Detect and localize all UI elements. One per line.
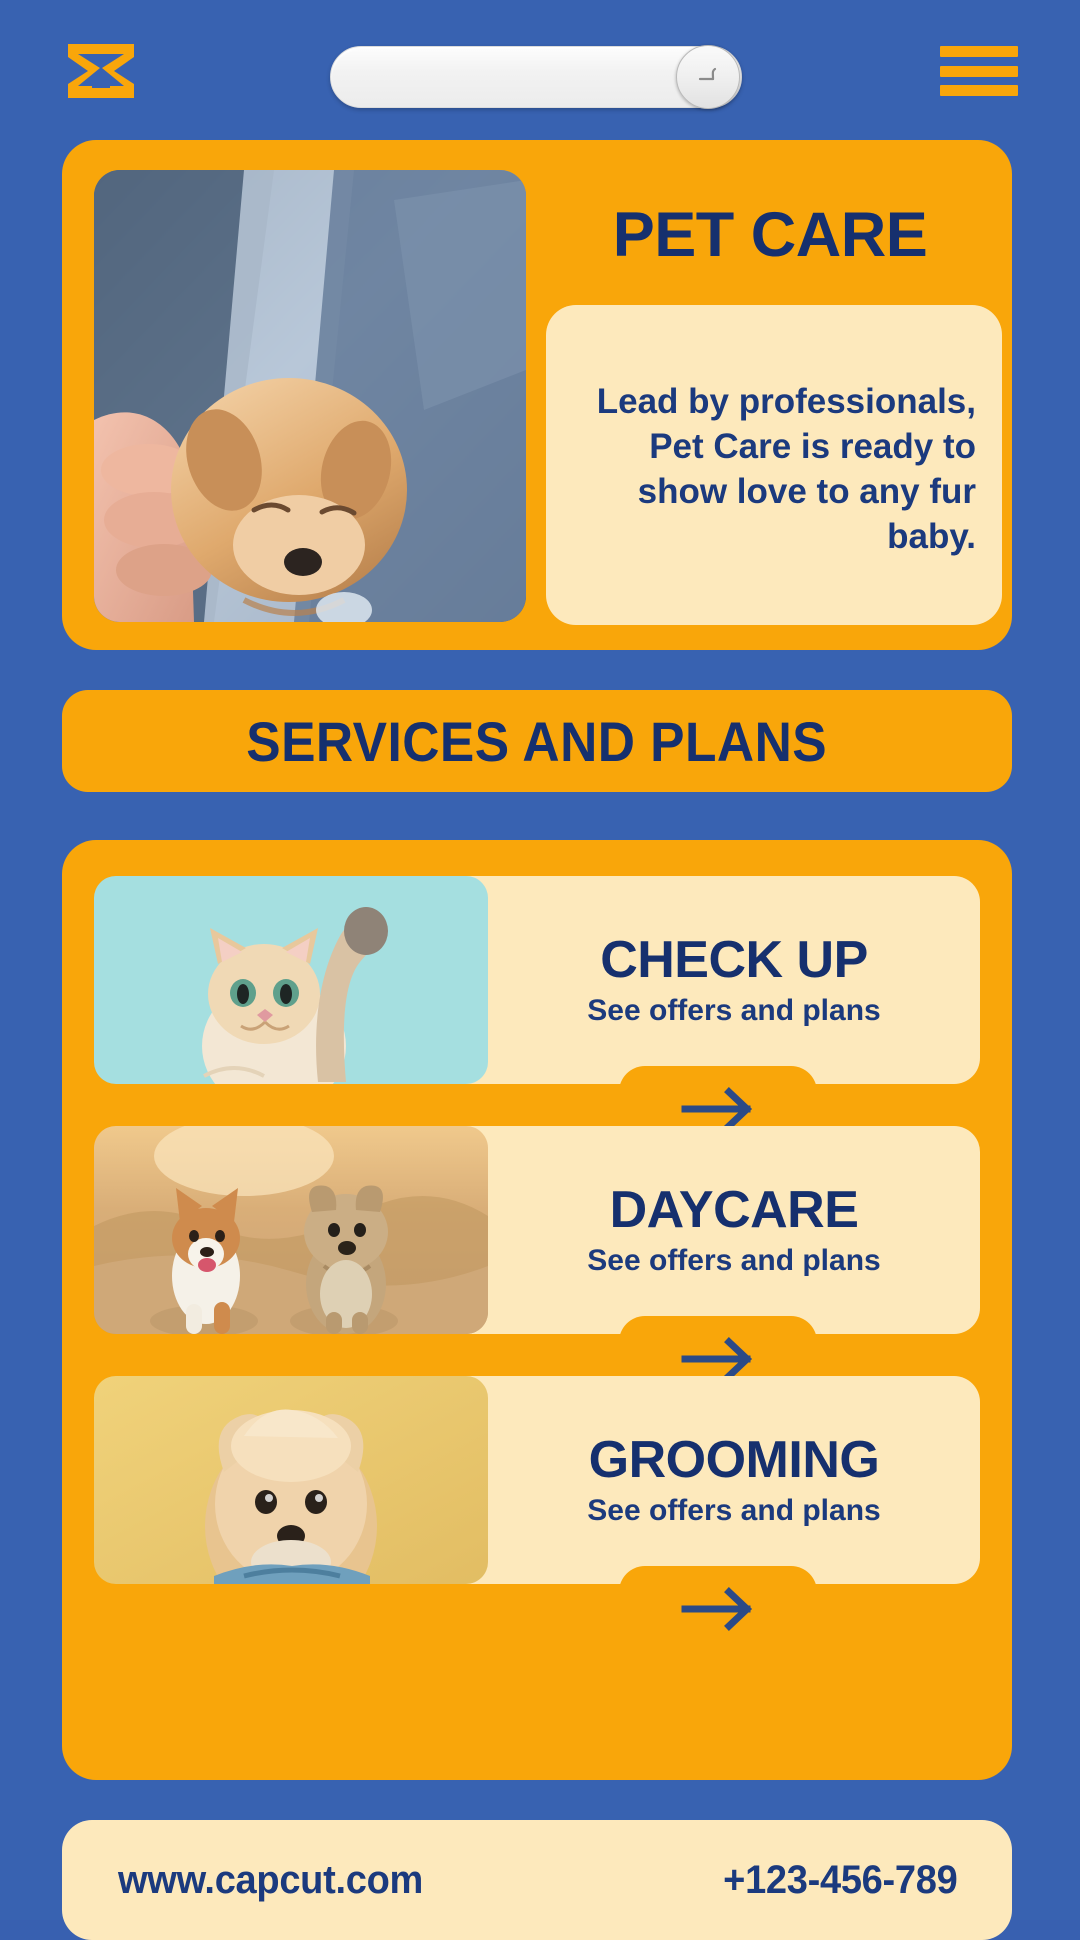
footer-website[interactable]: www.capcut.com xyxy=(118,1858,423,1903)
service-title: DAYCARE xyxy=(610,1184,859,1236)
hero-photo xyxy=(94,170,526,622)
page-footer: www.capcut.com +123-456-789 xyxy=(62,1820,1012,1940)
service-title: GROOMING xyxy=(589,1434,880,1486)
service-panel: CHECK UP See offers and plans xyxy=(94,876,980,1084)
hero-title: PET CARE xyxy=(540,204,1000,267)
service-title: CHECK UP xyxy=(600,934,868,986)
service-photo-daycare xyxy=(94,1126,488,1334)
service-panel: DAYCARE See offers and plans xyxy=(94,1126,980,1334)
service-subtitle: See offers and plans xyxy=(587,996,880,1026)
service-card-grooming[interactable]: GROOMING See offers and plans xyxy=(94,1376,980,1624)
page-header xyxy=(0,0,1080,128)
service-panel: GROOMING See offers and plans xyxy=(94,1376,980,1584)
services-container: CHECK UP See offers and plans xyxy=(62,840,1012,1780)
hero-description-box: Lead by professionals, Pet Care is ready… xyxy=(546,305,1002,625)
search-input[interactable] xyxy=(330,46,742,108)
service-copy: DAYCARE See offers and plans xyxy=(488,1126,980,1334)
search-button[interactable] xyxy=(676,45,740,109)
service-copy: GROOMING See offers and plans xyxy=(488,1376,980,1584)
hero-card: PET CARE Lead by professionals, Pet Care… xyxy=(62,140,1012,650)
arrow-right-icon xyxy=(679,1586,757,1632)
service-photo-grooming xyxy=(94,1376,488,1584)
capcut-logo[interactable] xyxy=(62,40,140,102)
service-card-check-up[interactable]: CHECK UP See offers and plans xyxy=(94,876,980,1124)
hamburger-menu-icon[interactable] xyxy=(940,40,1018,102)
service-card-daycare[interactable]: DAYCARE See offers and plans xyxy=(94,1126,980,1374)
pet-care-landing-page: PET CARE Lead by professionals, Pet Care… xyxy=(0,0,1080,1920)
menu-line-3 xyxy=(940,85,1018,96)
service-arrow-button[interactable] xyxy=(619,1566,817,1636)
service-photo-check-up xyxy=(94,876,488,1084)
services-banner: SERVICES AND PLANS xyxy=(62,690,1012,792)
hero-description: Lead by professionals, Pet Care is ready… xyxy=(572,380,976,559)
service-subtitle: See offers and plans xyxy=(587,1246,880,1276)
footer-phone[interactable]: +123-456-789 xyxy=(724,1858,958,1903)
menu-line-1 xyxy=(940,46,1018,57)
search-icon xyxy=(691,60,725,94)
service-copy: CHECK UP See offers and plans xyxy=(488,876,980,1084)
service-subtitle: See offers and plans xyxy=(587,1496,880,1526)
services-banner-title: SERVICES AND PLANS xyxy=(247,709,828,774)
menu-line-2 xyxy=(940,66,1018,77)
